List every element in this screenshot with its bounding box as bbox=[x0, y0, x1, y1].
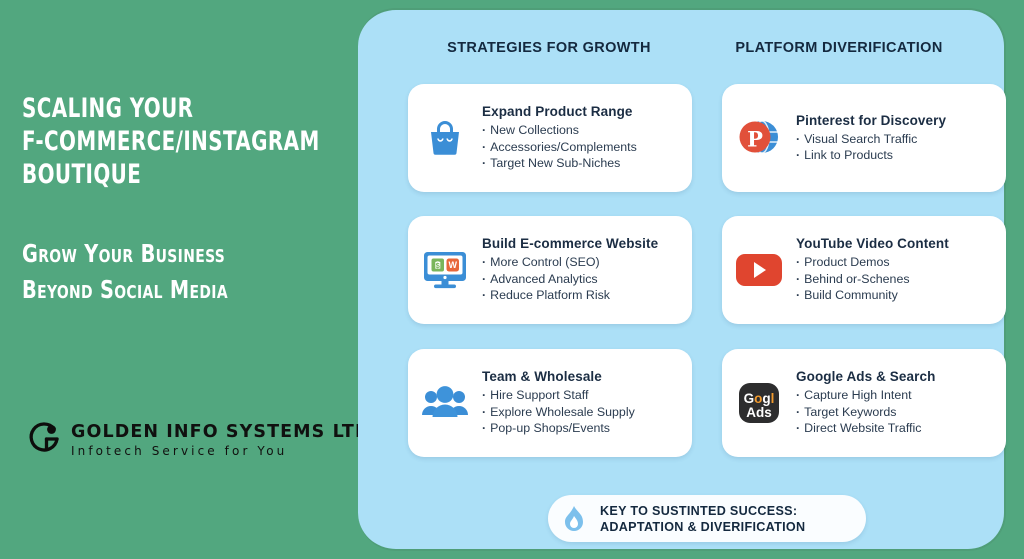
logo-company-name: GOLDEN INFO SYSTEMS LTD. bbox=[71, 422, 378, 442]
card-bullets: Hire Support Staff Explore Wholesale Sup… bbox=[482, 387, 635, 437]
youtube-play-icon bbox=[722, 250, 796, 290]
key-to-success-banner[interactable]: KEY TO SUSTINTED SUCCESS: ADAPTATION & D… bbox=[548, 495, 866, 542]
google-ads-bottom-label: Ads bbox=[746, 405, 772, 420]
card-expand-product-range[interactable]: Expand Product Range New Collections Acc… bbox=[408, 84, 692, 192]
card-bullets: More Control (SEO) Advanced Analytics Re… bbox=[482, 254, 658, 304]
strategy-panel: STRATEGIES FOR GROWTH PLATFORM DIVERIFIC… bbox=[358, 8, 1006, 551]
banner-line-2: ADAPTATION & DIVERIFICATION bbox=[600, 519, 805, 535]
card-bullet: Behind or-Schenes bbox=[796, 271, 949, 288]
banner-line-1: KEY TO SUSTINTED SUCCESS: bbox=[600, 503, 805, 519]
company-logo: GOLDEN INFO SYSTEMS LTD. Infotech Servic… bbox=[24, 417, 378, 462]
card-bullet: Target Keywords bbox=[796, 404, 935, 421]
logo-tagline: Infotech Service for You bbox=[71, 444, 378, 458]
title-line-1: Scaling Your bbox=[22, 92, 293, 125]
google-ads-icon: Gogl Ads bbox=[722, 379, 796, 427]
main-title: Scaling Your F-Commerce/Instagram Boutiq… bbox=[22, 92, 352, 191]
title-line-3: Boutique bbox=[22, 158, 293, 191]
infographic-canvas: Scaling Your F-Commerce/Instagram Boutiq… bbox=[0, 0, 1024, 559]
logo-text-block: GOLDEN INFO SYSTEMS LTD. Infotech Servic… bbox=[71, 422, 378, 458]
card-bullet: Direct Website Traffic bbox=[796, 420, 935, 437]
card-build-ecommerce-website[interactable]: $ W Build E-commerce Website More Contro… bbox=[408, 216, 692, 324]
people-group-icon bbox=[408, 382, 482, 424]
card-bullets: Product Demos Behind or-Schenes Build Co… bbox=[796, 254, 949, 304]
card-title: Build E-commerce Website bbox=[482, 236, 658, 251]
pinterest-globe-icon: P bbox=[722, 115, 796, 161]
card-title: Google Ads & Search bbox=[796, 369, 935, 384]
card-bullet: Visual Search Traffic bbox=[796, 131, 946, 148]
card-bullet: Build Community bbox=[796, 287, 949, 304]
column-heading-platforms: PLATFORM DIVERIFICATION bbox=[694, 40, 984, 56]
woo-badge-label: W bbox=[449, 260, 458, 270]
card-bullet: Target New Sub-Niches bbox=[482, 155, 637, 172]
card-bullet: Reduce Platform Risk bbox=[482, 287, 658, 304]
card-title: YouTube Video Content bbox=[796, 236, 949, 251]
card-bullet: Accessories/Complements bbox=[482, 139, 637, 156]
banner-text: KEY TO SUSTINTED SUCCESS: ADAPTATION & D… bbox=[600, 503, 805, 535]
card-body: Expand Product Range New Collections Acc… bbox=[482, 104, 645, 172]
card-title: Team & Wholesale bbox=[482, 369, 635, 384]
card-bullet: Explore Wholesale Supply bbox=[482, 404, 635, 421]
card-body: Google Ads & Search Capture High Intent … bbox=[796, 369, 943, 437]
title-line-2: F-Commerce/Instagram bbox=[22, 125, 293, 158]
card-bullet: New Collections bbox=[482, 122, 637, 139]
golden-info-systems-monogram-icon bbox=[24, 417, 64, 462]
card-bullet: Advanced Analytics bbox=[482, 271, 658, 288]
card-google-ads-and-search[interactable]: Gogl Ads Google Ads & Search Capture Hig… bbox=[722, 349, 1006, 457]
card-bullets: Visual Search Traffic Link to Products bbox=[796, 131, 946, 164]
card-bullets: Capture High Intent Target Keywords Dire… bbox=[796, 387, 935, 437]
card-team-and-wholesale[interactable]: Team & Wholesale Hire Support Staff Expl… bbox=[408, 349, 692, 457]
card-youtube-video-content[interactable]: YouTube Video Content Product Demos Behi… bbox=[722, 216, 1006, 324]
shopping-bag-icon bbox=[408, 116, 482, 160]
card-bullet: Pop-up Shops/Events bbox=[482, 420, 635, 437]
card-body: YouTube Video Content Product Demos Behi… bbox=[796, 236, 957, 304]
card-bullet: Hire Support Staff bbox=[482, 387, 635, 404]
card-title: Expand Product Range bbox=[482, 104, 637, 119]
subtitle-line-2: Beyond Social Media bbox=[22, 272, 306, 308]
card-body: Pinterest for Discovery Visual Search Tr… bbox=[796, 113, 954, 164]
card-body: Build E-commerce Website More Control (S… bbox=[482, 236, 666, 304]
column-heading-strategies: STRATEGIES FOR GROWTH bbox=[404, 40, 694, 56]
card-bullet: Capture High Intent bbox=[796, 387, 935, 404]
card-bullet: Product Demos bbox=[796, 254, 949, 271]
card-bullets: New Collections Accessories/Complements … bbox=[482, 122, 637, 172]
card-pinterest-for-discovery[interactable]: P Pinterest for Discovery Visual Search … bbox=[722, 84, 1006, 192]
google-ads-top-label: Gogl bbox=[744, 391, 775, 406]
left-title-panel: Scaling Your F-Commerce/Instagram Boutiq… bbox=[0, 0, 360, 559]
desktop-monitor-ecommerce-icon: $ W bbox=[408, 247, 482, 293]
subtitle: Grow Your Business Beyond Social Media bbox=[22, 236, 352, 308]
card-body: Team & Wholesale Hire Support Staff Expl… bbox=[482, 369, 643, 437]
card-bullet: Link to Products bbox=[796, 147, 946, 164]
card-title: Pinterest for Discovery bbox=[796, 113, 946, 128]
pinterest-letter: P bbox=[747, 127, 763, 152]
card-bullet: More Control (SEO) bbox=[482, 254, 658, 271]
subtitle-line-1: Grow Your Business bbox=[22, 236, 306, 272]
flame-icon bbox=[548, 504, 600, 534]
